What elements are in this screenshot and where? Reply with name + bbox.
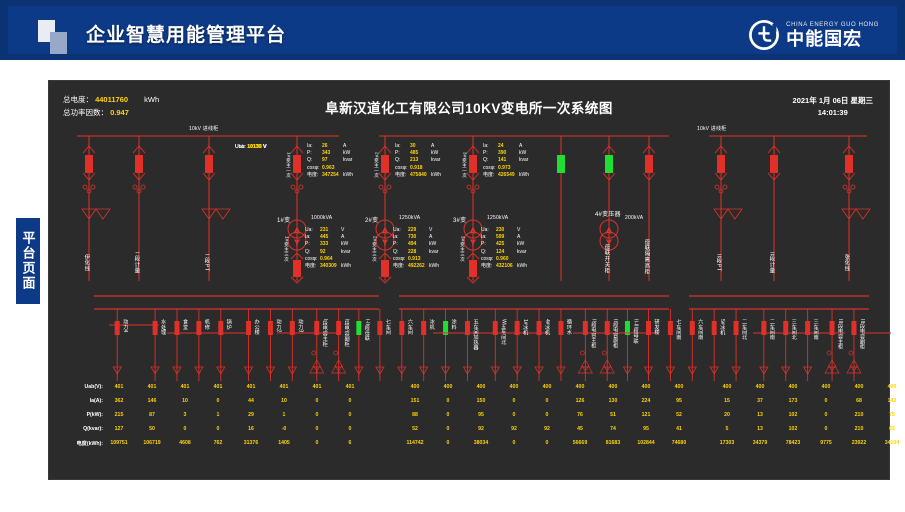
hv-feeder-label-1: I 段计量 xyxy=(133,241,139,285)
table-cell: 1 xyxy=(271,412,297,418)
table-cell: 0 xyxy=(534,398,560,404)
svg-text:△: △ xyxy=(470,227,476,234)
table-cell: 0 xyxy=(337,412,363,418)
table-cell: 0 xyxy=(435,426,461,432)
table-cell: 0 xyxy=(205,398,231,404)
table-cell: 34379 xyxy=(747,440,773,446)
hv-feeder-label-0: 伊化线 xyxy=(83,241,89,285)
hv-bay-label-1: 2#变主一次 xyxy=(373,143,379,187)
table-cell: 56669 xyxy=(567,440,593,446)
table-cell: 92 xyxy=(468,426,494,432)
table-cell: 400 xyxy=(666,384,692,390)
table-cell: 17303 xyxy=(714,440,740,446)
table-cell: 401 xyxy=(337,384,363,390)
table-cell: 0 xyxy=(813,426,839,432)
feeder-label-10: I-II段母联 xyxy=(361,319,370,375)
table-cell: 0 xyxy=(534,440,560,446)
table-cell: 1405 xyxy=(271,440,297,446)
table-cell: 0 xyxy=(304,426,330,432)
feeder-label-21: II段电容副柜 xyxy=(609,319,618,375)
table-cell: 10 xyxy=(172,398,198,404)
row-label-q: Q(kvar): xyxy=(57,426,103,432)
transformer-name-3: 4#变压器 xyxy=(595,209,621,218)
transformer-bay-1: 2#变主三次 xyxy=(371,227,377,271)
feeder-label-20: II段电容主柜 xyxy=(587,319,596,375)
table-cell: 173 xyxy=(780,398,806,404)
table-cell: 0 xyxy=(304,412,330,418)
table-cell: 50 xyxy=(139,426,165,432)
feeder-label-22: II-III段母联 xyxy=(629,319,638,375)
hv-breaker-symbols xyxy=(82,146,870,219)
feeder-label-3: 机修 xyxy=(201,319,210,375)
table-cell: 92 xyxy=(534,426,560,432)
table-cell: 401 xyxy=(139,384,165,390)
table-cell: 130 xyxy=(600,398,626,404)
table-cell: 400 xyxy=(468,384,494,390)
table-cell: 210 xyxy=(846,412,872,418)
transformer-rating-0: 1000kVA xyxy=(311,215,332,221)
feeder-label-23: 研发楼 xyxy=(651,319,660,375)
table-cell: 400 xyxy=(813,384,839,390)
table-cell: 65 xyxy=(879,426,905,432)
lv-meter-block-0: Ua:231V Ia:445A P:333kW Q:92kvar cosφ:0.… xyxy=(305,227,351,270)
table-cell: 0 xyxy=(304,440,330,446)
feeder-label-7: 动力3 xyxy=(294,319,303,375)
feeder-label-29: 三车间北 xyxy=(788,319,797,375)
svg-text:Y: Y xyxy=(471,240,476,247)
table-cell: 13 xyxy=(747,426,773,432)
table-cell: 45 xyxy=(567,426,593,432)
hv-bus-label-right: 10kV 进线柜 xyxy=(697,125,726,132)
table-cell: 87 xyxy=(139,412,165,418)
hv-bay-label-2: 3#变主一次 xyxy=(461,143,467,187)
table-cell: 0 xyxy=(813,398,839,404)
brand-logo: CHINA ENERGY GUO HONG 中能国宏 xyxy=(748,16,879,54)
table-cell: 215 xyxy=(106,412,132,418)
feeder-label-8: I段电容主柜 xyxy=(319,319,328,375)
table-cell: 76 xyxy=(567,412,593,418)
table-cell: 15 xyxy=(714,398,740,404)
lv-bus-group xyxy=(94,296,869,309)
table-cell: 102 xyxy=(780,412,806,418)
transformer-name-1: 2#变 xyxy=(365,215,378,224)
table-cell: 74 xyxy=(600,426,626,432)
hv-meter-block-2: Ia:24A P:390kW Q:141kvar cosφ:0.973 电度:4… xyxy=(483,143,529,179)
table-cell: 95 xyxy=(666,398,692,404)
table-cell: -0 xyxy=(271,426,297,432)
table-cell: 41 xyxy=(666,426,692,432)
sld-diagram-panel: 总电度： 44011760 kWh 总功率因数： 0.947 阜新汉道化工有限公… xyxy=(48,80,890,480)
table-cell: 210 xyxy=(846,426,872,432)
table-row: P(kW): 215873129100880950076511215220131… xyxy=(57,412,887,426)
voltage-row-2: Uca: 10116 V xyxy=(235,143,266,152)
table-cell: 52 xyxy=(666,412,692,418)
feeder-label-0: 动力4 xyxy=(119,319,128,375)
table-cell: 0 xyxy=(435,412,461,418)
table-row: Q(kvar): 127500016-000520929292457495415… xyxy=(57,426,887,440)
row-label-ia: Ia(A): xyxy=(57,398,103,404)
table-cell: 4608 xyxy=(172,440,198,446)
feeder-label-14: 涂料 xyxy=(448,319,457,375)
table-cell: 362 xyxy=(106,398,132,404)
svg-text:△: △ xyxy=(294,227,300,234)
table-cell: 106719 xyxy=(139,440,165,446)
table-cell: 3 xyxy=(172,412,198,418)
table-cell: 0 xyxy=(501,412,527,418)
feeder-label-13: 冰机 xyxy=(426,319,435,375)
table-cell: 92 xyxy=(501,426,527,432)
table-cell: 1 xyxy=(205,412,231,418)
table-cell: 150 xyxy=(468,398,494,404)
feeder-label-31: III段电容主柜 xyxy=(834,319,843,375)
feeder-label-5: 办公楼 xyxy=(251,319,260,375)
table-cell: 81683 xyxy=(600,440,626,446)
table-cell: 88 xyxy=(402,412,428,418)
feeder-label-28: 二车间南 xyxy=(766,319,775,375)
table-cell: 0 xyxy=(501,440,527,446)
table-cell: 400 xyxy=(600,384,626,390)
table-cell: 0 xyxy=(501,398,527,404)
table-cell: 401 xyxy=(238,384,264,390)
hv-feeder-label-6: II段计量 xyxy=(768,241,774,285)
table-cell: 38034 xyxy=(468,440,494,446)
lv-meter-block-2: Ua:230V Ia:599A P:425kW Q:124kvar cosφ:0… xyxy=(481,227,527,270)
hv-meter-block-1: Ia:30A P:485kW Q:213kvar cosφ:0.918 电度:4… xyxy=(395,143,441,179)
feeder-label-19: 循环水 xyxy=(563,319,572,375)
table-cell: 102 xyxy=(780,426,806,432)
feeder-label-30: 三车间南 xyxy=(810,319,819,375)
table-cell: 0 xyxy=(813,412,839,418)
feeder-label-4: 锅炉 xyxy=(223,319,232,375)
feeder-label-15: 五车间加热器 xyxy=(469,319,478,375)
table-cell: 6 xyxy=(337,440,363,446)
app-root: 企业智慧用能管理平台 CHINA ENERGY GUO HONG 中能国宏 平台… xyxy=(0,0,905,512)
feeder-label-24: 七车间南 xyxy=(672,319,681,375)
table-row: Uab(V): 40140140140140140140140140040040… xyxy=(57,384,887,398)
svg-text:△: △ xyxy=(382,227,388,234)
page-title: 企业智慧用能管理平台 xyxy=(86,20,286,47)
table-cell: 29 xyxy=(238,412,264,418)
table-row: 电度(kWh): 1097511067194608762313761405061… xyxy=(57,440,887,454)
table-cell: 400 xyxy=(747,384,773,390)
measurement-table: Uab(V): 40140140140140140140140140040040… xyxy=(57,384,887,454)
table-cell: 0 xyxy=(205,426,231,432)
feeder-label-25: 六车间南 xyxy=(694,319,703,375)
table-cell: 5 xyxy=(714,426,740,432)
table-cell: 401 xyxy=(271,384,297,390)
feeder-label-17: 1#冰机 xyxy=(519,319,528,375)
table-cell: 401 xyxy=(205,384,231,390)
table-cell: 44 xyxy=(238,398,264,404)
svg-text:Y: Y xyxy=(383,240,388,247)
feeder-label-1: 水处理 xyxy=(157,319,166,375)
feeder-label-26: 5#冰机 xyxy=(716,319,725,375)
transformer-rating-3: 200kVA xyxy=(625,215,643,221)
hv-feeder-label-7: 张化线 xyxy=(843,241,849,285)
table-cell: 95 xyxy=(633,426,659,432)
table-cell: 401 xyxy=(106,384,132,390)
transformer-name-0: 1#变 xyxy=(277,215,290,224)
transformer-bay-0: 1#变主三次 xyxy=(283,227,289,271)
table-cell: 95 xyxy=(468,412,494,418)
table-cell: 0 xyxy=(534,412,560,418)
table-cell: 10 xyxy=(271,398,297,404)
table-cell: 0 xyxy=(435,398,461,404)
table-cell: 78423 xyxy=(780,440,806,446)
table-cell: 401 xyxy=(172,384,198,390)
table-cell: 31376 xyxy=(238,440,264,446)
feeder-label-18: 4#冰机 xyxy=(541,319,550,375)
table-cell: 400 xyxy=(534,384,560,390)
table-cell: 127 xyxy=(106,426,132,432)
table-cell: 68 xyxy=(846,398,872,404)
brand-cn-text: 中能国宏 xyxy=(786,29,879,49)
feeder-label-12: 六车间 xyxy=(404,319,413,375)
table-cell: 114742 xyxy=(402,440,428,446)
lv-meter-block-1: Ua:229V Ia:730A P:494kW Q:228kvar cosφ:0… xyxy=(393,227,439,270)
feeder-label-16: W五车间北 xyxy=(497,319,506,375)
hv-feeder-label-4: 母联隔离高柜 xyxy=(643,229,649,285)
table-cell: 9775 xyxy=(813,440,839,446)
feeder-label-32: III段电容副柜 xyxy=(856,319,865,375)
hv-meter-block-0: Ia:26A P:343kW Q:97kvar cosφ:0.963 电度:34… xyxy=(307,143,353,179)
header-bar: 企业智慧用能管理平台 CHINA ENERGY GUO HONG 中能国宏 xyxy=(8,6,897,54)
sidebar-tab-platform-page[interactable]: 平台页面 xyxy=(16,218,40,304)
transformer-name-2: 3#变 xyxy=(453,215,466,224)
table-cell: 0 xyxy=(435,440,461,446)
table-cell: 75 xyxy=(879,412,905,418)
table-cell: 0 xyxy=(337,398,363,404)
table-cell: 20 xyxy=(714,412,740,418)
table-cell: 400 xyxy=(567,384,593,390)
hv-feeder-label-5: II段PT xyxy=(715,241,721,285)
hv-bus-label-left: 10kV 进线柜 xyxy=(189,125,218,132)
transformer-rating-1: 1250kVA xyxy=(399,215,420,221)
table-cell: 0 xyxy=(337,426,363,432)
table-cell: 400 xyxy=(633,384,659,390)
transformer-bay-2: 3#变主三次 xyxy=(459,227,465,271)
table-cell: 400 xyxy=(402,384,428,390)
hv-bay-label-0: 1#变主一次 xyxy=(285,143,291,187)
table-row: Ia(A): 362146100441000151015000126130224… xyxy=(57,398,887,412)
svg-text:Y: Y xyxy=(295,240,300,247)
table-cell: 401 xyxy=(304,384,330,390)
table-cell: 400 xyxy=(879,384,905,390)
table-cell: 74680 xyxy=(666,440,692,446)
hv-feeder-label-3: 母联开关柜 xyxy=(603,233,609,285)
table-cell: 121 xyxy=(633,412,659,418)
table-cell: 400 xyxy=(435,384,461,390)
table-cell: 0 xyxy=(172,426,198,432)
table-cell: 13 xyxy=(747,412,773,418)
feeder-label-27: 二车间北 xyxy=(738,319,747,375)
table-cell: 400 xyxy=(714,384,740,390)
table-cell: 16 xyxy=(238,426,264,432)
feeder-label-6: 动力2 xyxy=(272,319,281,375)
square-blocks-icon xyxy=(38,20,74,54)
brand-en-text: CHINA ENERGY GUO HONG xyxy=(786,21,879,29)
feeder-label-2: 食堂 xyxy=(179,319,188,375)
table-cell: 102844 xyxy=(633,440,659,446)
row-label-energy: 电度(kWh): xyxy=(57,440,103,447)
table-cell: 146 xyxy=(139,398,165,404)
hv-feeder-label-2: I 段PT xyxy=(203,241,209,285)
table-cell: 400 xyxy=(846,384,872,390)
table-cell: 762 xyxy=(205,440,231,446)
app-header: 企业智慧用能管理平台 CHINA ENERGY GUO HONG 中能国宏 xyxy=(0,0,905,60)
feeder-label-11: 七车间 xyxy=(382,319,391,375)
feeder-label-9: I段电容副柜 xyxy=(341,319,350,375)
transformer-rating-2: 1250kVA xyxy=(487,215,508,221)
table-cell: 126 xyxy=(567,398,593,404)
table-cell: 37 xyxy=(747,398,773,404)
table-cell: 34104 xyxy=(879,440,905,446)
table-cell: 51 xyxy=(600,412,626,418)
row-label-p: P(kW): xyxy=(57,412,103,418)
table-cell: 23922 xyxy=(846,440,872,446)
row-label-uab: Uab(V): xyxy=(57,384,103,390)
table-cell: 400 xyxy=(501,384,527,390)
table-cell: 142 xyxy=(879,398,905,404)
table-cell: 52 xyxy=(402,426,428,432)
table-cell: 400 xyxy=(780,384,806,390)
table-cell: 0 xyxy=(304,398,330,404)
guohong-circle-logo-icon xyxy=(748,19,780,51)
table-cell: 151 xyxy=(402,398,428,404)
table-cell: 109751 xyxy=(106,440,132,446)
table-cell: 224 xyxy=(633,398,659,404)
